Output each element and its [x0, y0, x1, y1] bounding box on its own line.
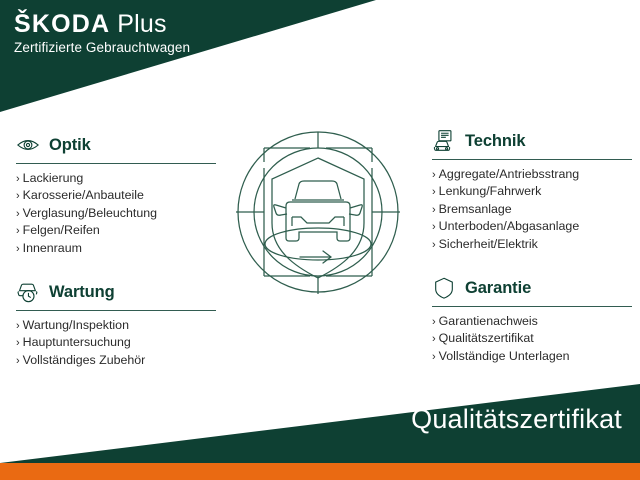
- list-item-label: Lenkung/Fahrwerk: [439, 183, 542, 199]
- chevron-right-icon: ›: [432, 237, 436, 253]
- list-item: ›Lackierung: [16, 170, 216, 187]
- shield-icon: [432, 276, 456, 300]
- section-wartung: Wartung ›Wartung/Inspektion ›Hauptunters…: [16, 279, 216, 369]
- section-technik-header: Technik: [432, 128, 632, 154]
- section-wartung-title: Wartung: [49, 283, 115, 302]
- list-item-label: Felgen/Reifen: [23, 222, 100, 238]
- section-technik-title: Technik: [465, 132, 525, 151]
- vehicle-shield-emblem: [228, 122, 408, 302]
- section-garantie-divider: [432, 306, 632, 307]
- section-optik-title: Optik: [49, 136, 91, 155]
- emblem-car-front: [274, 181, 363, 241]
- chevron-right-icon: ›: [432, 202, 436, 218]
- section-garantie-title: Garantie: [465, 279, 531, 298]
- list-item: ›Bremsanlage: [432, 201, 632, 218]
- list-item-label: Sicherheit/Elektrik: [439, 236, 538, 252]
- list-item-label: Karosserie/Anbauteile: [23, 187, 144, 203]
- chevron-right-icon: ›: [16, 223, 20, 239]
- list-item: ›Qualitätszertifikat: [432, 330, 632, 347]
- emblem-orbit-ellipse: [265, 228, 371, 260]
- list-item: ›Sicherheit/Elektrik: [432, 236, 632, 253]
- section-optik-list: ›Lackierung ›Karosserie/Anbauteile ›Verg…: [16, 170, 216, 257]
- list-item-label: Garantienachweis: [439, 313, 538, 329]
- list-item: ›Vollständiges Zubehör: [16, 352, 216, 369]
- list-item: ›Aggregate/Antriebsstrang: [432, 166, 632, 183]
- brand-suffix: Plus: [117, 10, 166, 38]
- list-item: ›Felgen/Reifen: [16, 222, 216, 239]
- list-item: ›Verglasung/Beleuchtung: [16, 205, 216, 222]
- chevron-right-icon: ›: [16, 318, 20, 334]
- left-column-spacer: [16, 257, 216, 279]
- brand-subtitle: Zertifizierte Gebrauchtwagen: [14, 41, 190, 56]
- list-item-label: Hauptuntersuchung: [23, 334, 131, 350]
- section-garantie-list: ›Garantienachweis ›Qualitätszertifikat ›…: [432, 313, 632, 365]
- list-item: ›Vollständige Unterlagen: [432, 348, 632, 365]
- list-item: ›Hauptuntersuchung: [16, 334, 216, 351]
- chevron-right-icon: ›: [16, 353, 20, 369]
- footer-title: Qualitätszertifikat: [411, 406, 622, 433]
- chevron-right-icon: ›: [16, 335, 20, 351]
- list-item-label: Vollständiges Zubehör: [23, 352, 146, 368]
- certificate-page: ŠKODAPlus Zertifizierte Gebrauchtwagen: [0, 0, 640, 480]
- chevron-right-icon: ›: [16, 171, 20, 187]
- section-wartung-header: Wartung: [16, 279, 216, 305]
- brand-logo: ŠKODAPlus Zertifizierte Gebrauchtwagen: [14, 12, 190, 56]
- list-item: ›Innenraum: [16, 240, 216, 257]
- list-item-label: Aggregate/Antriebsstrang: [439, 166, 580, 182]
- brand-logo-line: ŠKODAPlus: [14, 12, 190, 37]
- chevron-right-icon: ›: [432, 184, 436, 200]
- car-service-clock-icon: [16, 280, 40, 304]
- section-optik-header: Optik: [16, 132, 216, 158]
- chevron-right-icon: ›: [432, 314, 436, 330]
- section-technik-divider: [432, 159, 632, 160]
- right-column: Technik ›Aggregate/Antriebsstrang ›Lenku…: [432, 128, 632, 365]
- chevron-right-icon: ›: [432, 167, 436, 183]
- chevron-right-icon: ›: [16, 241, 20, 257]
- eye-icon: [16, 133, 40, 157]
- orange-bottom-bar: [0, 463, 640, 480]
- chevron-right-icon: ›: [432, 219, 436, 235]
- chevron-right-icon: ›: [16, 206, 20, 222]
- section-garantie-header: Garantie: [432, 275, 632, 301]
- list-item: ›Wartung/Inspektion: [16, 317, 216, 334]
- list-item: ›Unterboden/Abgasanlage: [432, 218, 632, 235]
- chevron-right-icon: ›: [432, 331, 436, 347]
- list-item-label: Unterboden/Abgasanlage: [439, 218, 580, 234]
- section-technik: Technik ›Aggregate/Antriebsstrang ›Lenku…: [432, 128, 632, 253]
- right-column-spacer: [432, 253, 632, 275]
- chevron-right-icon: ›: [432, 349, 436, 365]
- list-item-label: Lackierung: [23, 170, 84, 186]
- car-document-icon: [432, 129, 456, 153]
- section-garantie: Garantie ›Garantienachweis ›Qualitätszer…: [432, 275, 632, 365]
- list-item-label: Verglasung/Beleuchtung: [23, 205, 157, 221]
- section-optik: Optik ›Lackierung ›Karosserie/Anbauteile…: [16, 132, 216, 257]
- section-wartung-list: ›Wartung/Inspektion ›Hauptuntersuchung ›…: [16, 317, 216, 369]
- section-wartung-divider: [16, 310, 216, 311]
- brand-name: ŠKODA: [14, 10, 110, 38]
- section-technik-list: ›Aggregate/Antriebsstrang ›Lenkung/Fahrw…: [432, 166, 632, 253]
- list-item-label: Qualitätszertifikat: [439, 330, 534, 346]
- list-item-label: Wartung/Inspektion: [23, 317, 129, 333]
- left-column: Optik ›Lackierung ›Karosserie/Anbauteile…: [16, 132, 216, 369]
- chevron-right-icon: ›: [16, 188, 20, 204]
- list-item: ›Lenkung/Fahrwerk: [432, 183, 632, 200]
- list-item: ›Garantienachweis: [432, 313, 632, 330]
- section-optik-divider: [16, 163, 216, 164]
- list-item-label: Innenraum: [23, 240, 82, 256]
- list-item-label: Vollständige Unterlagen: [439, 348, 570, 364]
- list-item: ›Karosserie/Anbauteile: [16, 187, 216, 204]
- list-item-label: Bremsanlage: [439, 201, 512, 217]
